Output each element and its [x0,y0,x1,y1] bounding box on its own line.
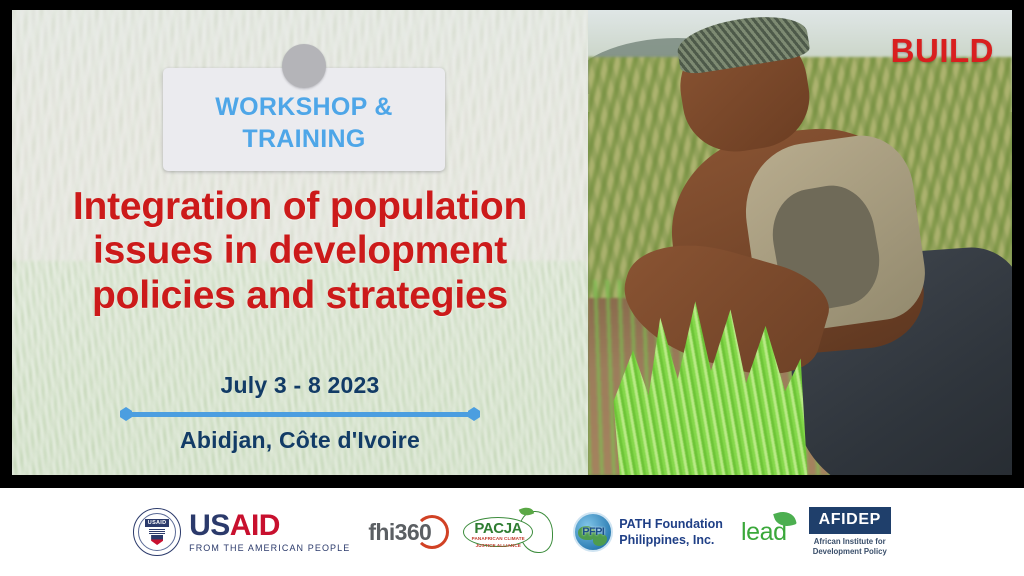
pacja-tagline: PANAFRICAN CLIMATE JUSTICE ALLIANCE [467,536,529,550]
pin-circle-icon [282,44,326,88]
globe-icon: PFPI [573,512,613,552]
event-meta: July 3 - 8 2023 Abidjan, Côte d'Ivoire [12,372,588,454]
usaid-seal-icon: USAID [133,508,181,556]
pacja-wordmark: PACJA [468,520,528,537]
rule-cap-right-icon [468,407,480,421]
workshop-training-card: WORKSHOP & TRAINING [163,68,445,171]
afidep-wordmark: AFIDEP [809,507,891,534]
logo-afidep: AFIDEP African Institute for Development… [809,507,891,558]
event-date: July 3 - 8 2023 [12,372,588,399]
afidep-tagline: African Institute for Development Policy [813,537,887,558]
usaid-wordmark: USAID [189,511,350,541]
usaid-seal-ring [138,513,176,551]
usaid-wordmark-aid: AID [230,509,280,542]
logo-fhi360: fhi360 [368,519,445,546]
logo-usaid: USAID USAID FROM THE AMERICAN PEOPLE [133,508,350,556]
build-brand-badge: BUILD [891,32,994,70]
page-title: Integration of population issues in deve… [12,185,588,318]
rule-line [130,412,470,417]
workshop-training-label: WORKSHOP & TRAINING [215,84,393,155]
usaid-tagline: FROM THE AMERICAN PEOPLE [189,543,350,553]
fhi360-arc-icon [415,515,449,549]
event-location: Abidjan, Côte d'Ivoire [12,427,588,454]
usaid-wordmark-us: US [189,509,230,542]
logo-lead: lead [741,520,791,545]
divider-rule [120,407,480,421]
pfpi-monogram: PFPI [582,526,604,538]
fhi360-wordmark: fhi360 [368,519,445,546]
poster-text-panel: WORKSHOP & TRAINING Integration of popul… [12,10,588,475]
pfpi-name: PATH Foundation Philippines, Inc. [619,516,723,548]
farmer-photo: BUILD [588,10,1012,475]
partner-logo-strip: USAID USAID FROM THE AMERICAN PEOPLE fhi… [0,488,1024,576]
event-poster: WORKSHOP & TRAINING Integration of popul… [0,0,1024,576]
logo-pfpi: PFPI PATH Foundation Philippines, Inc. [573,512,723,552]
hero-banner: WORKSHOP & TRAINING Integration of popul… [12,10,1012,475]
pacja-mark: PACJA PANAFRICAN CLIMATE JUSTICE ALLIANC… [463,508,555,556]
logo-pacja: PACJA PANAFRICAN CLIMATE JUSTICE ALLIANC… [463,508,555,556]
